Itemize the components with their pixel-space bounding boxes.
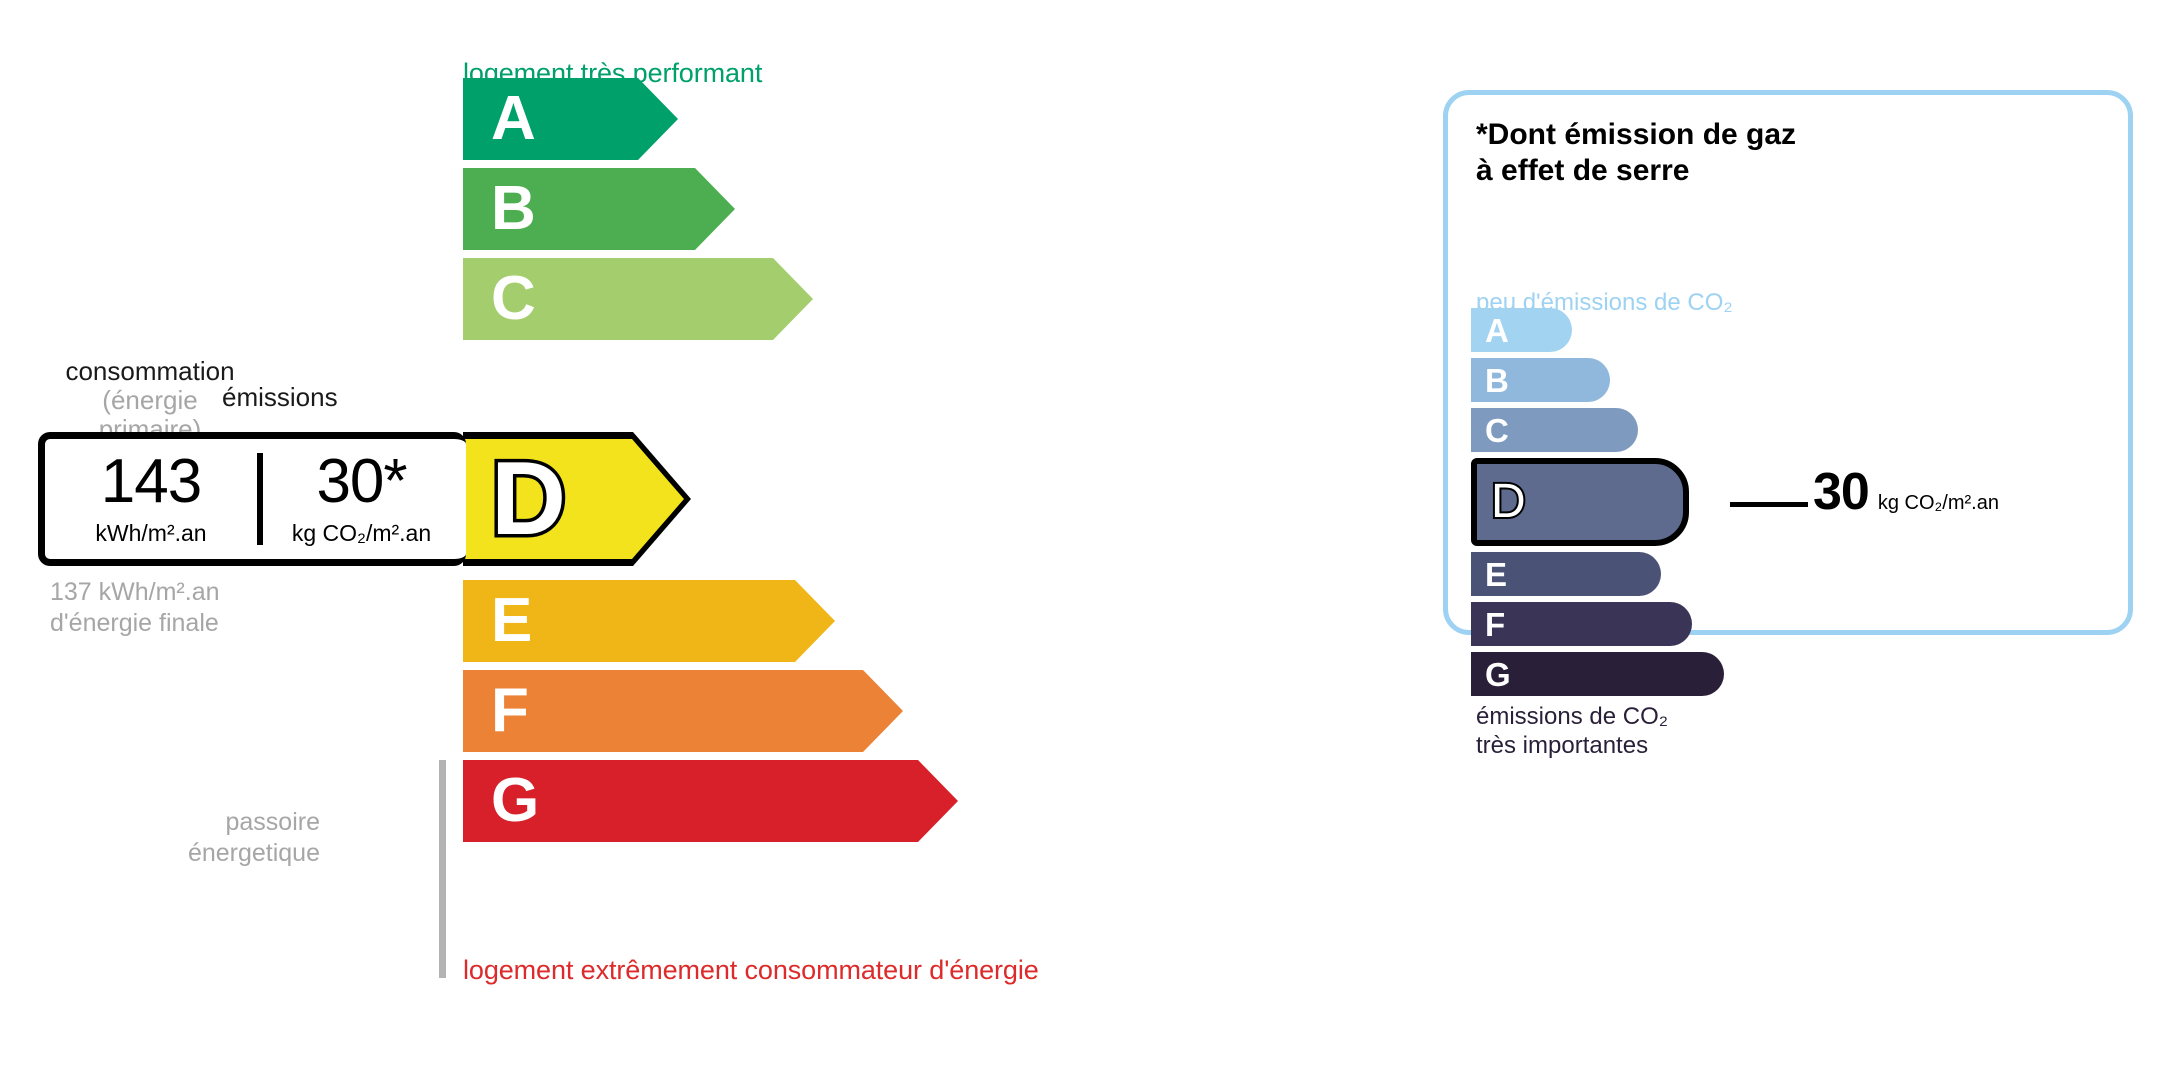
co2-bar-e: E — [1471, 552, 1661, 596]
passoire-marker-bar — [439, 760, 446, 978]
energy-letter-g: G — [491, 770, 539, 832]
co2-callout: 30 kg CO₂/m².an — [1813, 466, 1999, 518]
energy-letter-a: A — [491, 88, 536, 150]
co2-letter-b: B — [1485, 364, 1509, 397]
consumption-value: 143 — [101, 451, 201, 513]
emissions-value-cell: 30* kg CO₂/m².an — [257, 439, 466, 559]
co2-bar-b: B — [1471, 358, 1610, 402]
energy-arrow-d-fill: D — [463, 439, 684, 559]
co2-callout-value: 30 — [1813, 466, 1869, 518]
value-box: 143 kWh/m².an 30* kg CO₂/m².an — [38, 432, 466, 566]
co2-bar-f: F — [1471, 602, 1692, 646]
co2-panel-title: *Dont émission de gaz à effet de serre — [1476, 117, 1796, 189]
energy-arrow-f: F — [463, 670, 903, 752]
energy-arrow-e: E — [463, 580, 835, 662]
energy-arrow-b: B — [463, 168, 735, 250]
energy-bottom-caption: logement extrêmement consommateur d'éner… — [463, 955, 1039, 986]
co2-letter-e: E — [1485, 558, 1507, 591]
co2-bottom-caption: émissions de CO₂ très importantes — [1476, 703, 1668, 761]
co2-bar-a: A — [1471, 308, 1572, 352]
emissions-header: émissions — [222, 382, 338, 413]
co2-letter-c: C — [1485, 414, 1509, 447]
energy-bar-a: A — [463, 78, 678, 160]
energy-bar-e: E — [463, 580, 835, 662]
energy-bar-f: F — [463, 670, 903, 752]
passoire-label: passoire énergetique — [150, 807, 320, 870]
energy-arrow-c: C — [463, 258, 813, 340]
energy-letter-d: D — [491, 447, 566, 551]
energy-bar-b: B — [463, 168, 735, 250]
co2-letter-d: D — [1491, 478, 1526, 526]
energy-letter-e: E — [491, 590, 532, 652]
final-energy-note: 137 kWh/m².an d'énergie finale — [50, 577, 220, 640]
energy-letter-b: B — [491, 178, 536, 240]
energy-bar-d-selected: D — [463, 432, 691, 566]
energy-letter-f: F — [491, 680, 529, 742]
energy-arrow-d: D — [463, 432, 691, 566]
energy-rating-panel: logement très performant A B C D E F — [0, 0, 1280, 1079]
energy-bar-c: C — [463, 258, 813, 340]
co2-letter-f: F — [1485, 608, 1505, 641]
co2-bar-d-selected: D — [1471, 458, 1689, 546]
co2-bar-g: G — [1471, 652, 1724, 696]
energy-bar-g: G — [463, 760, 958, 842]
co2-letter-g: G — [1485, 658, 1511, 691]
energy-letter-c: C — [491, 268, 536, 330]
co2-callout-leader-line — [1730, 502, 1808, 507]
energy-arrow-g: G — [463, 760, 958, 842]
emissions-value: 30* — [316, 451, 406, 513]
consumption-header-main: consommation — [65, 356, 234, 386]
consumption-unit: kWh/m².an — [95, 520, 206, 547]
co2-bar-c: C — [1471, 408, 1638, 452]
energy-arrow-a: A — [463, 78, 678, 160]
emissions-unit: kg CO₂/m².an — [292, 520, 431, 547]
co2-letter-a: A — [1485, 314, 1509, 347]
co2-callout-unit: kg CO₂/m².an — [1878, 492, 1999, 515]
consumption-value-cell: 143 kWh/m².an — [45, 439, 257, 559]
